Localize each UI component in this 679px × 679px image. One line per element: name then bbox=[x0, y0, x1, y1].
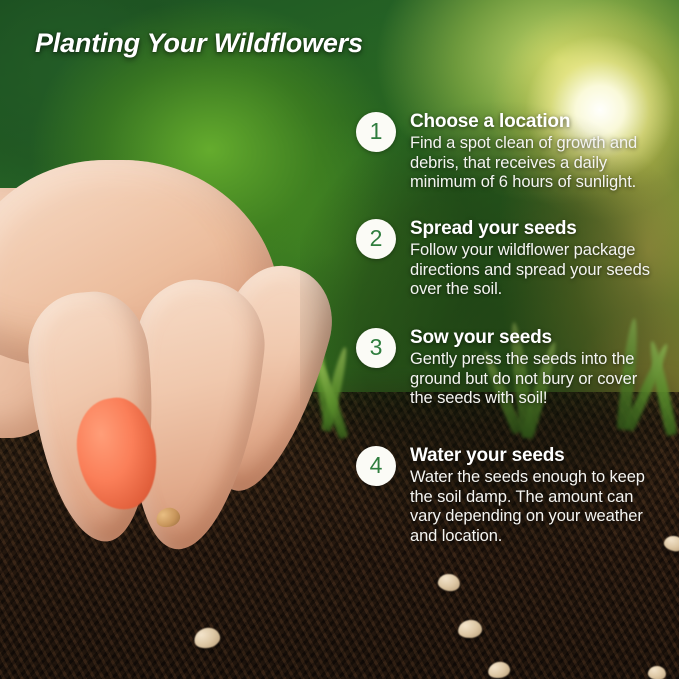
step-number-badge: 3 bbox=[356, 328, 396, 368]
step-number-badge: 4 bbox=[356, 446, 396, 486]
step-number: 3 bbox=[370, 336, 383, 359]
step-content: Sow your seeds Gently press the seeds in… bbox=[410, 328, 650, 409]
step-number: 4 bbox=[370, 454, 383, 477]
step-description: Gently press the seeds into the ground b… bbox=[410, 350, 650, 409]
step-content: Water your seeds Water the seeds enough … bbox=[410, 446, 650, 546]
step-content: Choose a location Find a spot clean of g… bbox=[410, 112, 650, 193]
step-description: Find a spot clean of growth and debris, … bbox=[410, 134, 650, 193]
step-description: Follow your wildflower package direction… bbox=[410, 241, 650, 300]
step-heading: Spread your seeds bbox=[410, 219, 650, 239]
planting-wildflowers-infographic: Planting Your Wildflowers 1 Choose a loc… bbox=[0, 0, 679, 679]
step-description: Water the seeds enough to keep the soil … bbox=[410, 468, 650, 547]
step-heading: Water your seeds bbox=[410, 446, 650, 466]
step-number-badge: 1 bbox=[356, 112, 396, 152]
step-heading: Sow your seeds bbox=[410, 328, 650, 348]
step-number: 1 bbox=[370, 120, 383, 143]
step-content: Spread your seeds Follow your wildflower… bbox=[410, 219, 650, 300]
step-heading: Choose a location bbox=[410, 112, 650, 132]
step-number: 2 bbox=[370, 227, 383, 250]
step-number-badge: 2 bbox=[356, 219, 396, 259]
page-title: Planting Your Wildflowers bbox=[35, 28, 363, 59]
